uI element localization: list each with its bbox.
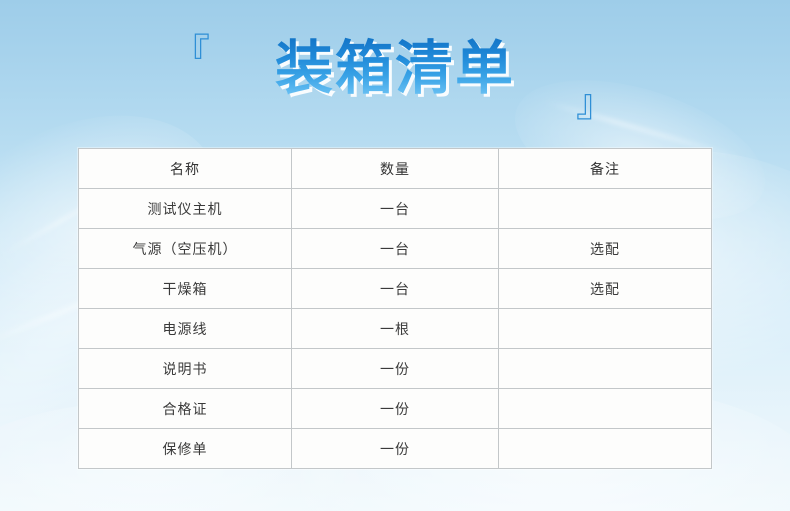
cell-quantity: 一台 <box>292 189 499 229</box>
table-row: 电源线一根 <box>79 309 712 349</box>
cell-name: 电源线 <box>79 309 292 349</box>
cell-name: 测试仪主机 <box>79 189 292 229</box>
cell-quantity: 一根 <box>292 309 499 349</box>
column-header-name: 名称 <box>79 149 292 189</box>
cell-name: 干燥箱 <box>79 269 292 309</box>
bracket-close-icon: 』 <box>576 84 614 122</box>
cell-name: 说明书 <box>79 349 292 389</box>
table-header: 名称 数量 备注 <box>79 149 712 189</box>
column-header-note: 备注 <box>499 149 712 189</box>
table-row: 干燥箱一台选配 <box>79 269 712 309</box>
table-row: 气源（空压机）一台选配 <box>79 229 712 269</box>
table-header-row: 名称 数量 备注 <box>79 149 712 189</box>
cell-quantity: 一份 <box>292 389 499 429</box>
table-row: 保修单一份 <box>79 429 712 469</box>
table-row: 说明书一份 <box>79 349 712 389</box>
cell-note <box>499 189 712 229</box>
table-row: 测试仪主机一台 <box>79 189 712 229</box>
cell-quantity: 一台 <box>292 269 499 309</box>
cell-note: 选配 <box>499 229 712 269</box>
packing-table: 名称 数量 备注 测试仪主机一台气源（空压机）一台选配干燥箱一台选配电源线一根说… <box>78 148 712 469</box>
column-header-quantity: 数量 <box>292 149 499 189</box>
cell-name: 保修单 <box>79 429 292 469</box>
packing-list-page: 『 装箱清单 』 名称 数量 备注 测试仪主机一台气源（空压机）一台选配干燥箱一… <box>0 0 790 511</box>
title-area: 『 装箱清单 』 <box>0 0 790 140</box>
table-body: 测试仪主机一台气源（空压机）一台选配干燥箱一台选配电源线一根说明书一份合格证一份… <box>79 189 712 469</box>
cell-note <box>499 349 712 389</box>
packing-table-container: 名称 数量 备注 测试仪主机一台气源（空压机）一台选配干燥箱一台选配电源线一根说… <box>78 148 711 469</box>
cell-name: 气源（空压机） <box>79 229 292 269</box>
cell-name: 合格证 <box>79 389 292 429</box>
cell-note <box>499 309 712 349</box>
cell-note <box>499 429 712 469</box>
cell-note: 选配 <box>499 269 712 309</box>
page-title: 装箱清单 <box>0 36 790 100</box>
cell-note <box>499 389 712 429</box>
cell-quantity: 一份 <box>292 429 499 469</box>
cell-quantity: 一份 <box>292 349 499 389</box>
cell-quantity: 一台 <box>292 229 499 269</box>
table-row: 合格证一份 <box>79 389 712 429</box>
